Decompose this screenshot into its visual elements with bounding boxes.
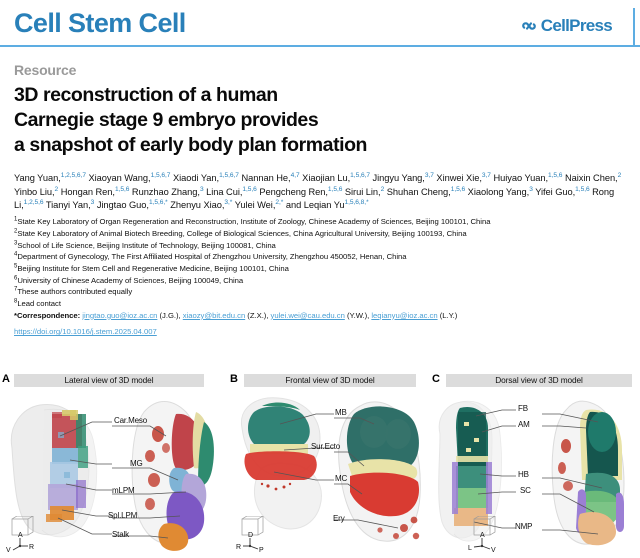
axis-label-a: A bbox=[18, 532, 23, 539]
affiliation-item: 2State Key Laboratory of Animal Biotech … bbox=[14, 228, 628, 240]
affiliation-number: 4 bbox=[14, 252, 17, 258]
figure-panel-a: A Lateral view of 3D model bbox=[0, 372, 222, 558]
axis-label-v: V bbox=[491, 547, 496, 554]
author-name: Yinbo Liu, bbox=[14, 187, 55, 197]
author-affiliation-marker: 1,5,6 bbox=[548, 172, 562, 179]
panel-c-letter: C bbox=[432, 373, 440, 385]
author-name: Xiaolong Yang, bbox=[468, 187, 530, 197]
author-name: Lina Cui, bbox=[206, 187, 242, 197]
panel-b-canvas[interactable]: MB Sur.Ecto MC Ery D bbox=[228, 388, 424, 558]
author-affiliation-marker: 3 bbox=[91, 199, 95, 206]
panel-a-letter: A bbox=[2, 373, 10, 385]
affiliation-number: 3 bbox=[14, 240, 17, 246]
affiliation-number: 8 bbox=[14, 298, 17, 304]
correspondence-email[interactable]: jingtao.guo@ioz.ac.cn bbox=[82, 311, 157, 320]
author-affiliation-marker: 1,5,6 bbox=[115, 186, 129, 193]
affiliation-number: 7 bbox=[14, 287, 17, 293]
axis-label-v: V bbox=[6, 547, 11, 554]
affiliation-item: 3School of Life Science, Beijing Institu… bbox=[14, 240, 628, 252]
affiliation-item: 5Beijing Institute for Stem Cell and Reg… bbox=[14, 263, 628, 275]
affiliation-item: 1State Key Laboratory of Organ Regenerat… bbox=[14, 216, 628, 228]
author-name: Xiaojian Lu, bbox=[302, 173, 350, 183]
figure-3d-model-views: A Lateral view of 3D model bbox=[0, 372, 640, 558]
author-list: Yang Yuan,1,2,5,6,7 Xiaoyan Wang,1,5,6,7… bbox=[14, 172, 626, 213]
author-name: Jingyu Yang, bbox=[373, 173, 425, 183]
panel-c-label-fb: FB bbox=[518, 404, 528, 413]
correspondence-email[interactable]: xiaozy@bit.edu.cn bbox=[183, 311, 245, 320]
panel-a-label-stalk: Stalk bbox=[112, 530, 129, 539]
author-name: Tianyi Yan, bbox=[46, 200, 91, 210]
author-name: Huiyao Yuan, bbox=[493, 173, 548, 183]
affiliation-item: 8Lead contact bbox=[14, 298, 628, 310]
affiliation-number: 2 bbox=[14, 228, 17, 234]
correspondence-email[interactable]: leqianyu@ioz.ac.cn bbox=[371, 311, 437, 320]
correspondence-initials: (L.Y.) bbox=[438, 311, 458, 320]
author-affiliation-marker: 1,2,5,6,7 bbox=[61, 172, 86, 179]
author-affiliation-marker: 1,5,6 bbox=[242, 186, 256, 193]
correspondence-initials: (J.G.), bbox=[157, 311, 182, 320]
axis-label-r: R bbox=[29, 544, 34, 551]
cellpress-link-icon bbox=[521, 18, 537, 34]
affiliation-item: 7These authors contributed equally bbox=[14, 286, 628, 298]
affiliation-item: 6University of Chinese Academy of Scienc… bbox=[14, 275, 628, 287]
title-line-3: a snapshot of early body plan formation bbox=[14, 133, 444, 158]
panel-c-label-hb: HB bbox=[518, 470, 529, 479]
panel-c-label-am: AM bbox=[518, 420, 530, 429]
author-affiliation-marker: 2,* bbox=[275, 199, 283, 206]
cellpress-logo[interactable]: CellPress bbox=[521, 16, 612, 36]
author-name: Sirui Lin, bbox=[345, 187, 381, 197]
correspondence-initials: (Z.X.), bbox=[245, 311, 270, 320]
author-affiliation-marker: 1,5,6,7 bbox=[151, 172, 171, 179]
panel-a-label-mg: MG bbox=[130, 459, 143, 468]
panel-a-canvas[interactable]: Car.Meso MG mLPM Spl.LPM Stalk bbox=[0, 388, 222, 558]
panel-c-label-nmp: NMP bbox=[515, 522, 532, 531]
panel-a-label-spl-lpm: Spl.LPM bbox=[108, 511, 137, 520]
author-affiliation-marker: 2 bbox=[55, 186, 59, 193]
author-name: Yifei Guo, bbox=[535, 187, 575, 197]
panel-a-title: Lateral view of 3D model bbox=[14, 374, 204, 387]
panel-a-axis-gizmo: A R V bbox=[6, 516, 46, 556]
affiliation-list: 1State Key Laboratory of Organ Regenerat… bbox=[14, 216, 628, 310]
panel-b-axis-gizmo: D P R bbox=[236, 516, 276, 556]
author-affiliation-marker: 1,5,6,8,* bbox=[344, 199, 368, 206]
panel-c-axis-gizmo: A V L bbox=[468, 516, 508, 556]
author-affiliation-marker: 1,5,6 bbox=[575, 186, 589, 193]
panel-a-label-car-meso: Car.Meso bbox=[114, 416, 147, 425]
page-title: 3D reconstruction of a human Carnegie st… bbox=[14, 83, 444, 158]
doi-link[interactable]: https://doi.org/10.1016/j.stem.2025.04.0… bbox=[14, 327, 157, 336]
article-type-kicker: Resource bbox=[14, 62, 628, 78]
author-name: Xinwei Xie, bbox=[436, 173, 481, 183]
author-affiliation-marker: 2 bbox=[618, 172, 622, 179]
author-name: Hongan Ren, bbox=[61, 187, 115, 197]
author-name: and Leqian Yu bbox=[286, 200, 345, 210]
author-name: Zhenyu Xiao, bbox=[170, 200, 224, 210]
figure-panel-c: C Dorsal view of 3D model bbox=[430, 372, 640, 558]
title-line-2: Carnegie stage 9 embryo provides bbox=[14, 108, 444, 133]
author-affiliation-marker: 1,5,6,7 bbox=[350, 172, 370, 179]
panel-b-label-mc: MC bbox=[335, 474, 347, 483]
figure-panel-b: B Frontal view of 3D model bbox=[228, 372, 424, 558]
author-affiliation-marker: 2 bbox=[381, 186, 385, 193]
author-affiliation-marker: 3 bbox=[529, 186, 533, 193]
masthead: Cell Stem Cell CellPress bbox=[0, 0, 640, 52]
panel-b-label-sur-ecto: Sur.Ecto bbox=[311, 442, 340, 451]
author-affiliation-marker: 1,5,6,7 bbox=[219, 172, 239, 179]
panel-b-label-ery: Ery bbox=[333, 514, 345, 523]
cellpress-wordmark: CellPress bbox=[541, 16, 612, 36]
axis-label-d: D bbox=[248, 532, 253, 539]
axis-label-p: P bbox=[259, 547, 264, 554]
author-affiliation-marker: 1,5,6 bbox=[451, 186, 465, 193]
affiliation-number: 5 bbox=[14, 263, 17, 269]
author-name: Yang Yuan, bbox=[14, 173, 61, 183]
author-affiliation-marker: 3,7 bbox=[482, 172, 491, 179]
author-affiliation-marker: 1,5,6,* bbox=[149, 199, 168, 206]
correspondence-initials: (Y.W.), bbox=[345, 311, 372, 320]
axis-label-r: R bbox=[236, 544, 241, 551]
panel-b-letter: B bbox=[230, 373, 238, 385]
author-affiliation-marker: 3 bbox=[200, 186, 204, 193]
author-name: Nannan He, bbox=[241, 173, 290, 183]
title-line-1: 3D reconstruction of a human bbox=[14, 83, 444, 108]
author-name: Xiaodi Yan, bbox=[173, 173, 219, 183]
axis-label-a: A bbox=[480, 532, 485, 539]
article-header: Resource 3D reconstruction of a human Ca… bbox=[14, 62, 628, 339]
panel-b-label-mb: MB bbox=[335, 408, 347, 417]
panel-c-label-sc: SC bbox=[520, 486, 531, 495]
header-horizontal-rule bbox=[0, 45, 640, 47]
author-name: Pengcheng Ren, bbox=[259, 187, 328, 197]
panel-a-label-mlpm: mLPM bbox=[112, 486, 135, 495]
header-vertical-rule bbox=[633, 8, 635, 46]
panel-c-canvas[interactable]: FB AM HB SC NMP bbox=[430, 388, 640, 558]
affiliation-number: 6 bbox=[14, 275, 17, 281]
author-affiliation-marker: 1,5,6 bbox=[328, 186, 342, 193]
panel-b-title: Frontal view of 3D model bbox=[244, 374, 416, 387]
author-name: Xiaoyan Wang, bbox=[89, 173, 151, 183]
journal-title: Cell Stem Cell bbox=[14, 8, 186, 39]
author-affiliation-marker: 1,2,5,6 bbox=[24, 199, 44, 206]
author-affiliation-marker: 3,7 bbox=[425, 172, 434, 179]
affiliation-item: 4Department of Gynecology, The First Aff… bbox=[14, 251, 628, 263]
author-name: Naixin Chen, bbox=[565, 173, 618, 183]
correspondence-label: *Correspondence: bbox=[14, 311, 82, 320]
author-name: Shuhan Cheng, bbox=[387, 187, 451, 197]
author-affiliation-marker: 3,* bbox=[224, 199, 232, 206]
axis-label-l: L bbox=[468, 545, 472, 552]
voxel-cloud-c bbox=[452, 407, 492, 526]
panel-c-title: Dorsal view of 3D model bbox=[446, 374, 632, 387]
correspondence-line: *Correspondence: jingtao.guo@ioz.ac.cn (… bbox=[14, 310, 628, 322]
author-affiliation-marker: 4,7 bbox=[291, 172, 300, 179]
correspondence-email[interactable]: yulei.wei@cau.edu.cn bbox=[271, 311, 345, 320]
author-name: Runzhao Zhang, bbox=[132, 187, 200, 197]
author-name: Yulei Wei, bbox=[235, 200, 276, 210]
affiliation-number: 1 bbox=[14, 217, 17, 223]
author-name: Jingtao Guo, bbox=[97, 200, 149, 210]
embryo-solid-c bbox=[552, 401, 624, 545]
